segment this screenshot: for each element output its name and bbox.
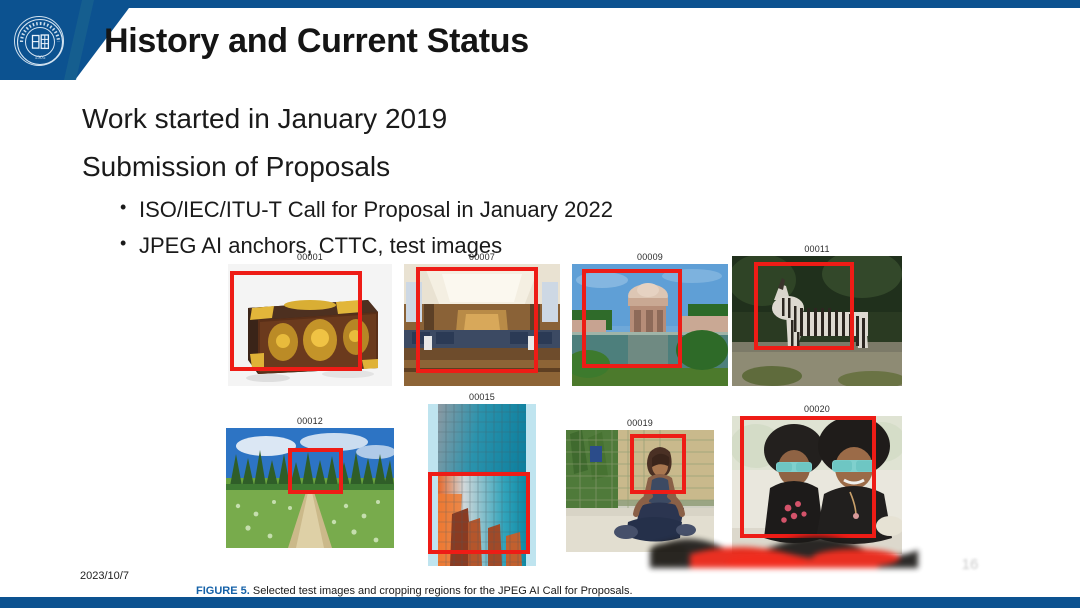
figure-image-00019: 00019	[566, 418, 714, 550]
figure-image-00020: 00020	[732, 404, 902, 554]
thumbnail-00007	[404, 264, 560, 386]
image-label-00009: 00009	[572, 252, 728, 262]
figure-image-00007: 00007	[404, 252, 560, 382]
image-label-00007: 00007	[404, 252, 560, 262]
image-label-00020: 00020	[732, 404, 902, 414]
figure-image-00012: 00012	[226, 416, 394, 548]
figure-caption: FIGURE 5. Selected test images and cropp…	[196, 585, 633, 597]
body-line-1: Work started in January 2019	[82, 105, 942, 133]
figure-image-grid: 00001	[0, 252, 1080, 572]
thumbnail-00012	[226, 428, 394, 548]
image-label-00012: 00012	[226, 416, 394, 426]
figure-image-00011: 00011	[732, 244, 902, 384]
thumbnail-00020	[732, 416, 902, 554]
thumbnail-00001	[228, 264, 392, 386]
fudan-university-seal-icon: 1905	[14, 16, 64, 66]
image-label-00001: 00001	[228, 252, 392, 262]
slide-canvas: 1905 History and Current Status Work sta…	[0, 0, 1080, 608]
page-title: History and Current Status	[104, 22, 529, 61]
thumbnail-00015	[428, 404, 536, 566]
thumbnail-00009	[572, 264, 728, 386]
bottom-accent-bar	[0, 597, 1080, 608]
bullet-item-1: ISO/IEC/ITU-T Call for Proposal in Janua…	[120, 199, 942, 221]
date-stamp: 2023/10/7	[80, 570, 129, 582]
body-line-2: Submission of Proposals	[82, 153, 942, 181]
thumbnail-00011	[732, 256, 902, 386]
image-label-00011: 00011	[732, 244, 902, 254]
figure-image-00015: 00015	[428, 392, 536, 567]
figure-caption-text: Selected test images and cropping region…	[250, 585, 633, 597]
thumbnail-00019	[566, 430, 714, 552]
page-number: 16	[952, 556, 988, 584]
top-accent-bar	[0, 0, 1080, 8]
figure-image-00009: 00009	[572, 252, 728, 382]
image-label-00015: 00015	[428, 392, 536, 402]
image-label-00019: 00019	[566, 418, 714, 428]
svg-text:1905: 1905	[35, 55, 46, 61]
figure-image-00001: 00001	[228, 252, 392, 382]
figure-caption-number: FIGURE 5.	[196, 585, 250, 597]
